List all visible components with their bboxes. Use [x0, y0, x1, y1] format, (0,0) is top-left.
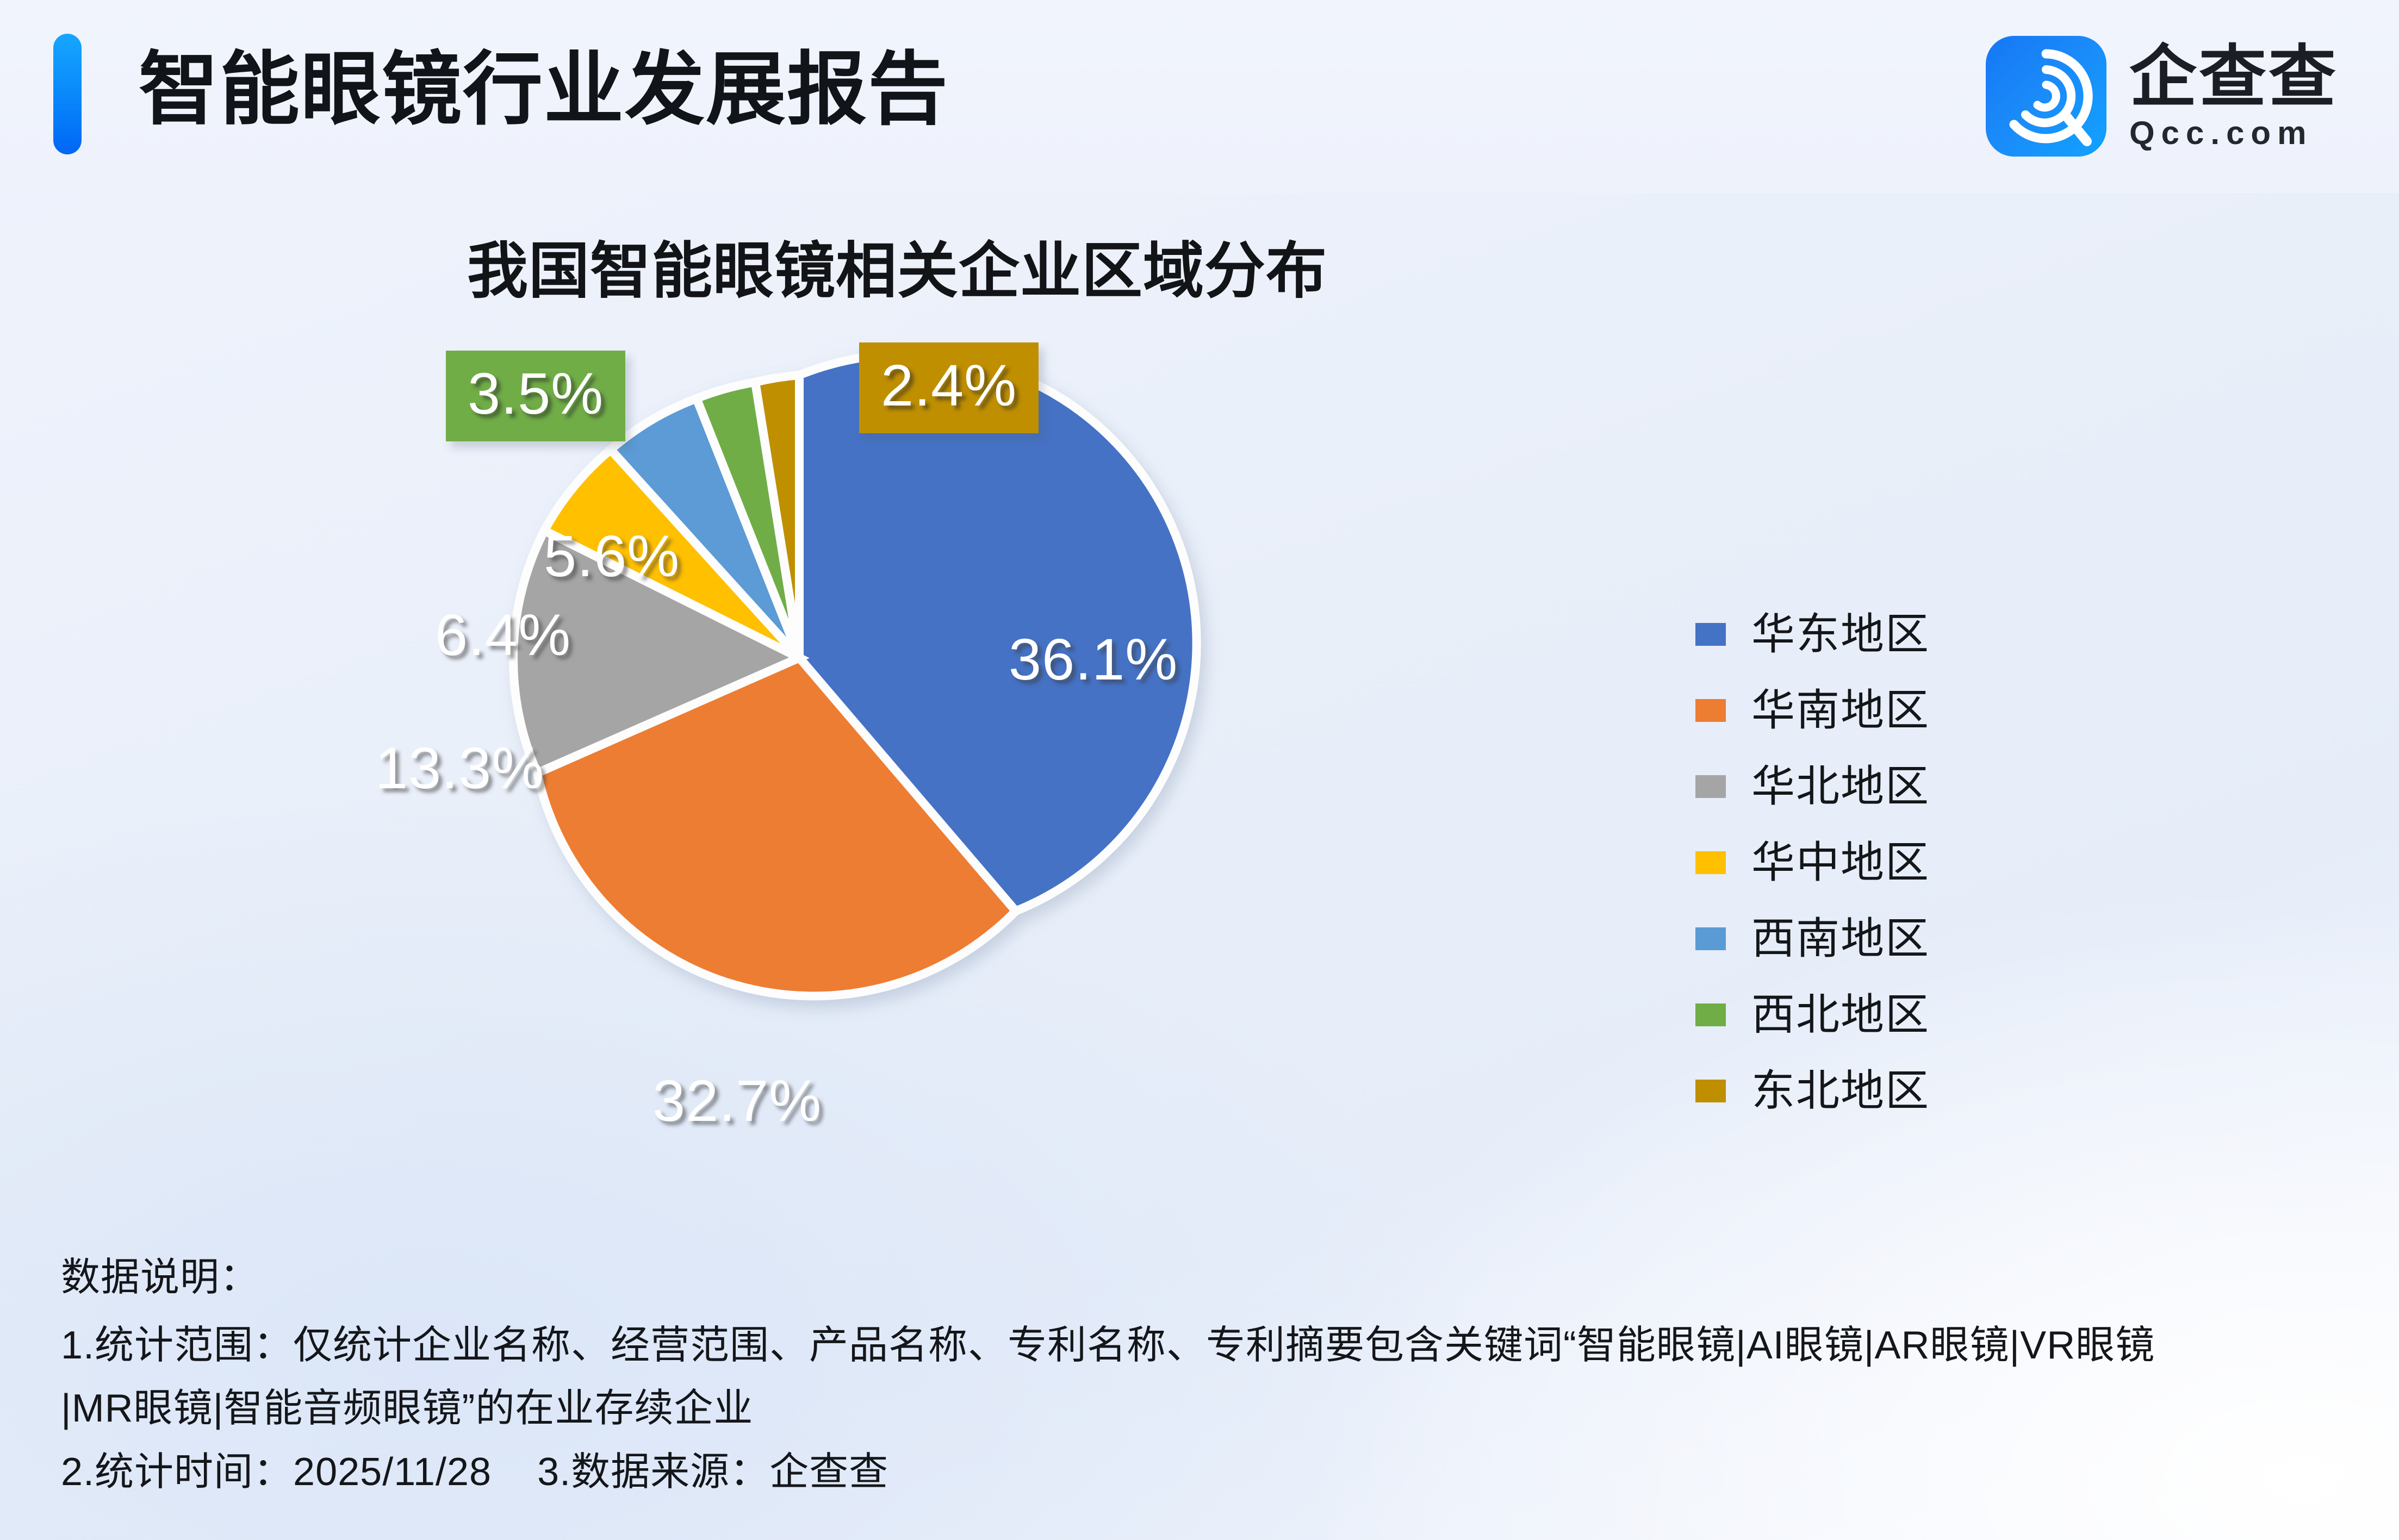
legend-item-label: 华南地区 [1751, 689, 1930, 732]
slice-label-southwest-china: 5.6% [544, 522, 680, 590]
legend-swatch-icon [1695, 927, 1726, 950]
brand-wordmark: 企查查 Qcc.com [2129, 42, 2338, 150]
legend-item-label: 华北地区 [1751, 765, 1930, 808]
legend-item-label: 华中地区 [1751, 841, 1930, 884]
slice-label-central-china: 6.4% [435, 601, 571, 669]
qcc-spiral-q-logo-icon [1986, 36, 2106, 157]
legend-item-north-china[interactable]: 华北地区 [1695, 765, 1930, 808]
legend-item-east-china[interactable]: 华东地区 [1695, 613, 1930, 656]
notes-heading: 数据说明： [61, 1246, 2345, 1310]
notes-scope-line-1: 1.统计范围：仅统计企业名称、经营范围、产品名称、专利名称、专利摘要包含关键词“… [61, 1314, 2345, 1377]
chart-title: 我国智能眼镜相关企业区域分布 [0, 222, 1794, 310]
slice-label-east-china: 36.1% [1009, 625, 1178, 693]
data-notes: 数据说明： 1.统计范围：仅统计企业名称、经营范围、产品名称、专利名称、专利摘要… [61, 1246, 2345, 1504]
callout-label-northwest-china: 3.5% [446, 351, 625, 441]
legend-item-label: 西南地区 [1751, 917, 1930, 961]
page-title: 智能眼镜行业发展报告 [139, 28, 949, 152]
brand-logo: 企查查 Qcc.com [1986, 34, 2338, 159]
legend-item-label: 东北地区 [1751, 1069, 1930, 1113]
notes-stat-time: 2.统计时间：2025/11/28 [61, 1441, 492, 1504]
brand-name-en: Qcc.com [2129, 116, 2338, 150]
slice-label-south-china: 32.7% [652, 1067, 822, 1134]
legend-item-south-china[interactable]: 华南地区 [1695, 689, 1930, 732]
title-accent-bar [53, 34, 82, 154]
legend-swatch-icon [1695, 699, 1726, 722]
legend-item-northeast-china[interactable]: 东北地区 [1695, 1070, 1930, 1112]
legend-swatch-icon [1695, 623, 1726, 646]
legend-item-label: 华东地区 [1751, 613, 1930, 656]
callout-label-northeast-china: 2.4% [859, 342, 1039, 433]
report-canvas: 智能眼镜行业发展报告 企查查 Qcc.com 我国智能眼镜相关企业区域分布 [0, 0, 2399, 1540]
legend-item-northwest-china[interactable]: 西北地区 [1695, 994, 1930, 1036]
pie-chart: 36.1% 32.7% 13.3% 6.4% 5.6% 3.5% 2.4% [0, 304, 2399, 1218]
legend-item-central-china[interactable]: 华中地区 [1695, 841, 1930, 884]
notes-scope-line-2: |MR眼镜|智能音频眼镜”的在业存续企业 [61, 1377, 2345, 1441]
chart-legend: 华东地区 华南地区 华北地区 华中地区 西南地区 西北地区 东北地区 [1695, 613, 1930, 1112]
brand-name-cn: 企查查 [2129, 42, 2338, 113]
legend-swatch-icon [1695, 1003, 1726, 1026]
slice-label-north-china: 13.3% [375, 734, 544, 802]
legend-item-label: 西北地区 [1751, 993, 1930, 1037]
legend-swatch-icon [1695, 1080, 1726, 1102]
report-header: 智能眼镜行业发展报告 企查查 Qcc.com [0, 0, 2399, 193]
notes-data-source: 3.数据来源：企查查 [537, 1441, 888, 1504]
legend-swatch-icon [1695, 775, 1726, 798]
legend-item-southwest-china[interactable]: 西南地区 [1695, 918, 1930, 960]
legend-swatch-icon [1695, 851, 1726, 874]
